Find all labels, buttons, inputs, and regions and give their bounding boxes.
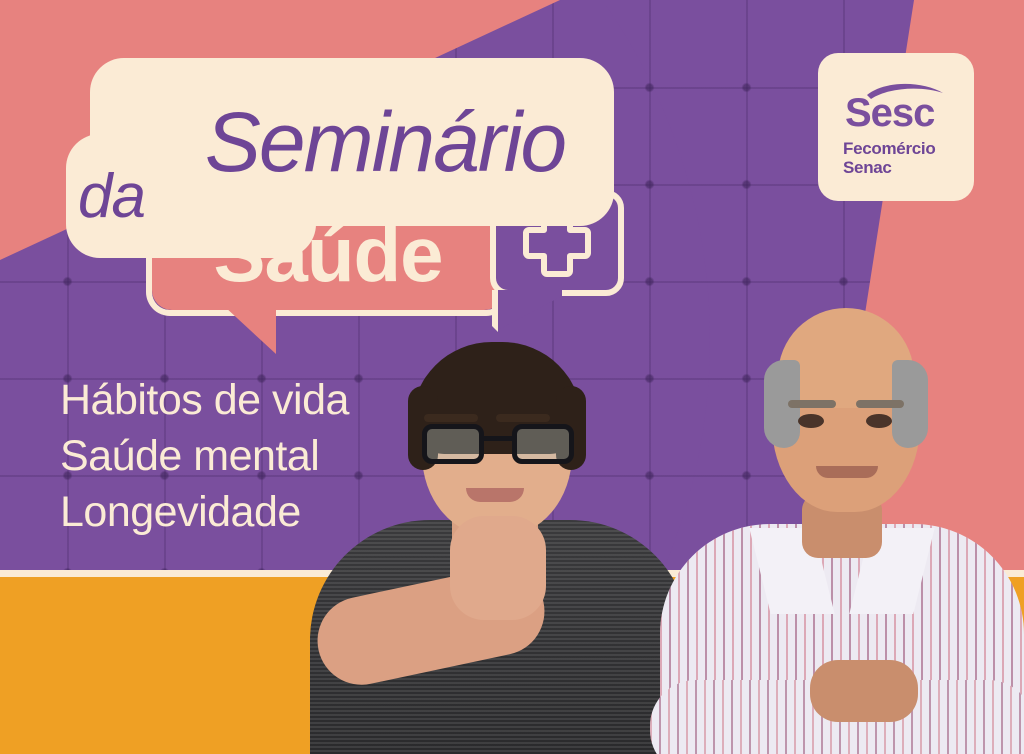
band-yellow <box>0 577 1024 754</box>
svg-text:Sesc: Sesc <box>845 91 935 132</box>
band-divider <box>0 570 1024 577</box>
topic-item-1: Hábitos de vida <box>60 372 349 428</box>
sesc-logo-line2: Senac <box>843 158 955 177</box>
sesc-logo-line1: Fecomércio <box>843 139 955 158</box>
topic-item-3: Longevidade <box>60 484 349 540</box>
title-word-seminario: Seminário <box>90 58 614 226</box>
sesc-logo-sublines: Fecomércio Senac <box>837 139 955 177</box>
topic-item-2: Saúde mental <box>60 428 349 484</box>
sesc-logo-mark: Sesc <box>837 78 955 132</box>
topics-list: Hábitos de vida Saúde mental Longevidade <box>60 372 349 540</box>
seminario-saude-banner: da Seminário Saúde <box>0 0 1024 754</box>
saude-bubble-tail <box>224 306 276 354</box>
sesc-logo-card: Sesc Fecomércio Senac <box>818 53 974 201</box>
